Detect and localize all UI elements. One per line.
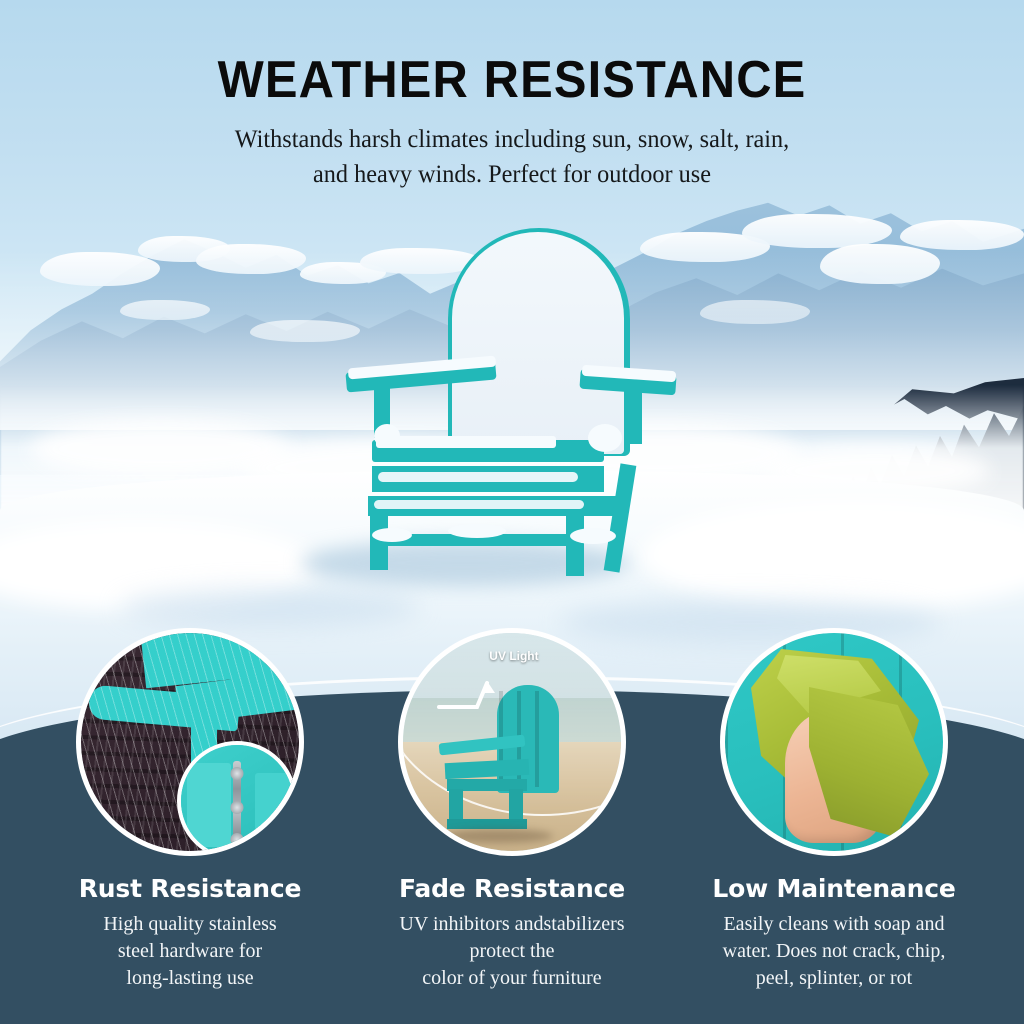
fade-scene: UV Light [403,633,621,851]
chair-arm-support-right [626,386,642,444]
feature-body-fade: UV inhibitors andstabilizers protect the… [352,911,672,992]
body-line-1: High quality stainless [30,911,350,938]
feature-image-rust[interactable] [76,628,304,856]
body-line-3: long-lasting use [30,965,350,992]
chair-seat-snow [376,436,556,448]
uv-light-label: UV Light [489,649,538,663]
rust-scene [81,633,299,851]
chair-slat-gap [535,691,539,787]
infographic-canvas: WEATHER RESISTANCE Withstands harsh clim… [0,0,1024,1024]
snow-patch [570,528,616,544]
beach-chair-shadow [443,829,553,843]
chair-rail-snow [374,500,584,509]
snow-cap [742,214,892,248]
chair-leg-rear [604,463,637,572]
hardware-detail-inset[interactable] [177,741,297,851]
inset-board-right [255,773,291,849]
feature-image-fade[interactable]: UV Light [398,628,626,856]
feature-title-fade: Fade Resistance [352,874,672,903]
bolt-head [231,801,244,814]
page-subtitle: Withstands harsh climates including sun,… [0,122,1024,192]
page-title: WEATHER RESISTANCE [31,50,994,110]
snow-shadow [120,588,420,628]
feature-low-maintenance: Low Maintenance Easily cleans with soap … [674,628,994,992]
body-line-1: Easily cleans with soap and [674,911,994,938]
feature-rust-resistance: Rust Resistance High quality stainless s… [30,628,350,992]
uv-arrow-icon [437,671,501,713]
subtitle-line-1: Withstands harsh climates including sun,… [15,122,1008,157]
feature-title-rust: Rust Resistance [30,874,350,903]
body-line-3: peel, splinter, or rot [674,965,994,992]
feature-title-maintenance: Low Maintenance [674,874,994,903]
bolt-head [231,833,244,846]
chair-apron-snow [378,472,578,482]
body-line-3: color of your furniture [352,965,672,992]
hero-adirondack-chair [330,228,680,568]
inset-board-left [187,763,231,847]
snow-patch [374,424,400,448]
beach-chair-stretcher [447,819,527,829]
subtitle-line-2: and heavy winds. Perfect for outdoor use [15,157,1008,192]
body-line-2: protect the [352,938,672,965]
body-line-2: steel hardware for [30,938,350,965]
snow-patch [448,524,506,538]
body-line-1: UV inhibitors andstabilizers [352,911,672,938]
snow-patch [588,424,622,452]
feature-fade-resistance: UV Light Fade Resistance [352,628,672,992]
maintenance-scene [725,633,943,851]
chair-backrest-snow [452,232,624,454]
feature-image-maintenance[interactable] [720,628,948,856]
snow-cap [900,220,1024,250]
bolt-head [231,767,244,780]
snow-patch [372,528,412,542]
feature-body-rust: High quality stainless steel hardware fo… [30,911,350,992]
body-line-2: water. Does not crack, chip, [674,938,994,965]
feature-body-maintenance: Easily cleans with soap and water. Does … [674,911,994,992]
